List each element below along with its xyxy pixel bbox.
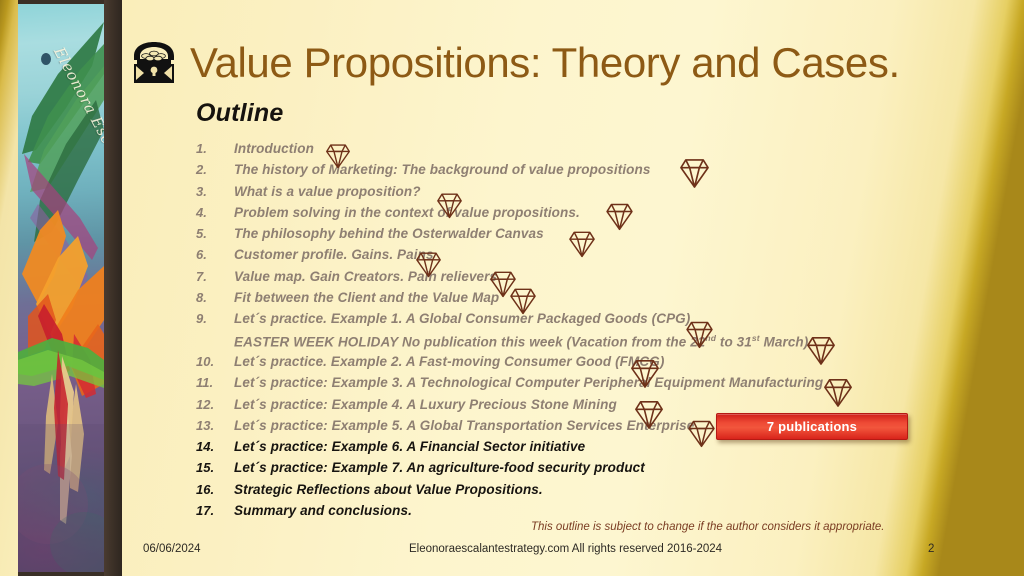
outline-item-number: 17. bbox=[196, 503, 234, 518]
outline-item-text: Introduction bbox=[234, 141, 314, 156]
outline-list: 1.Introduction2.The history of Marketing… bbox=[196, 141, 956, 524]
decorative-artwork-panel: Eleonora Escalante bbox=[18, 0, 122, 576]
outline-item-text: The history of Marketing: The background… bbox=[234, 162, 650, 177]
outline-item: 4.Problem solving in the context of valu… bbox=[196, 205, 956, 226]
outline-item: 15.Let´s practice: Example 7. An agricul… bbox=[196, 460, 956, 481]
outline-item: 2.The history of Marketing: The backgrou… bbox=[196, 162, 956, 183]
outline-item: 6.Customer profile. Gains. Pains bbox=[196, 247, 956, 268]
publications-badge[interactable]: 7 publications bbox=[716, 413, 908, 440]
section-label: Outline bbox=[196, 99, 284, 128]
slide-footer: 06/06/2024 Eleonoraescalantestrategy.com… bbox=[0, 543, 1024, 563]
outline-item-text: What is a value proposition? bbox=[234, 184, 421, 199]
outline-item-number: 12. bbox=[196, 397, 234, 412]
outline-item-text: Fit between the Client and the Value Map bbox=[234, 290, 499, 305]
outline-item-number: 14. bbox=[196, 439, 234, 454]
outline-item-text: EASTER WEEK HOLIDAY No publication this … bbox=[234, 333, 808, 350]
outline-item-number: 2. bbox=[196, 162, 234, 177]
outline-item-text: Summary and conclusions. bbox=[234, 503, 412, 518]
outline-item-number: 5. bbox=[196, 226, 234, 241]
outline-item-number: 3. bbox=[196, 184, 234, 199]
footer-copyright: Eleonoraescalantestrategy.com All rights… bbox=[409, 543, 722, 555]
outline-item: 8.Fit between the Client and the Value M… bbox=[196, 290, 956, 311]
disclaimer-note: This outline is subject to change if the… bbox=[531, 521, 885, 533]
footer-page-number: 2 bbox=[928, 543, 934, 555]
outline-item-number: 10. bbox=[196, 354, 234, 369]
outline-item-text: Let´s practice: Example 5. A Global Tran… bbox=[234, 418, 694, 433]
outline-item-number: 16. bbox=[196, 482, 234, 497]
outline-item: 11.Let´s practice: Example 3. A Technolo… bbox=[196, 375, 956, 396]
outline-item-text: Let´s practice. Example 2. A Fast-moving… bbox=[234, 354, 664, 369]
outline-item: 10.Let´s practice. Example 2. A Fast-mov… bbox=[196, 354, 956, 375]
outline-item-text: Let´s practice: Example 6. A Financial S… bbox=[234, 439, 585, 454]
page-title: Value Propositions: Theory and Cases. bbox=[190, 42, 900, 84]
slide-title-row: Value Propositions: Theory and Cases. bbox=[130, 40, 900, 85]
outline-item-number: 13. bbox=[196, 418, 234, 433]
outline-item: 7.Value map. Gain Creators. Pain relieve… bbox=[196, 269, 956, 290]
outline-item-number: 7. bbox=[196, 269, 234, 284]
outline-item-text: Let´s practice. Example 1. A Global Cons… bbox=[234, 311, 690, 326]
outline-item-number: 8. bbox=[196, 290, 234, 305]
outline-item-number: 9. bbox=[196, 311, 234, 326]
outline-item: 14.Let´s practice: Example 6. A Financia… bbox=[196, 439, 956, 460]
outline-item: 16.Strategic Reflections about Value Pro… bbox=[196, 482, 956, 503]
outline-item-text: Value map. Gain Creators. Pain relievers bbox=[234, 269, 497, 284]
outline-item-text: Customer profile. Gains. Pains bbox=[234, 247, 434, 262]
outline-item: 1.Introduction bbox=[196, 141, 956, 162]
outline-item: 5.The philosophy behind the Osterwalder … bbox=[196, 226, 956, 247]
outline-item-number: 15. bbox=[196, 460, 234, 475]
treasure-chest-icon bbox=[130, 40, 178, 85]
footer-date: 06/06/2024 bbox=[143, 543, 201, 555]
outline-item-number: 4. bbox=[196, 205, 234, 220]
presentation-slide: Eleonora Escalante bbox=[0, 0, 1024, 576]
outline-item: 3.What is a value proposition? bbox=[196, 184, 956, 205]
outline-item-number: 11. bbox=[196, 375, 234, 390]
bird-of-paradise-watercolor-image: Eleonora Escalante bbox=[18, 4, 104, 572]
artwork-border bbox=[104, 0, 122, 576]
outline-item: 9.Let´s practice. Example 1. A Global Co… bbox=[196, 311, 956, 332]
outline-item-text: Let´s practice: Example 7. An agricultur… bbox=[234, 460, 645, 475]
outline-item-text: Let´s practice: Example 3. A Technologic… bbox=[234, 375, 823, 390]
publications-badge-label: 7 publications bbox=[767, 419, 857, 434]
outline-item-text: The philosophy behind the Osterwalder Ca… bbox=[234, 226, 544, 241]
outline-item-text: Problem solving in the context of value … bbox=[234, 205, 580, 220]
outline-item-text: Strategic Reflections about Value Propos… bbox=[234, 482, 543, 497]
outline-item-number: 6. bbox=[196, 247, 234, 262]
outline-item-number: 1. bbox=[196, 141, 234, 156]
outline-item: EASTER WEEK HOLIDAY No publication this … bbox=[196, 333, 956, 354]
outline-item-text: Let´s practice: Example 4. A Luxury Prec… bbox=[234, 397, 617, 412]
